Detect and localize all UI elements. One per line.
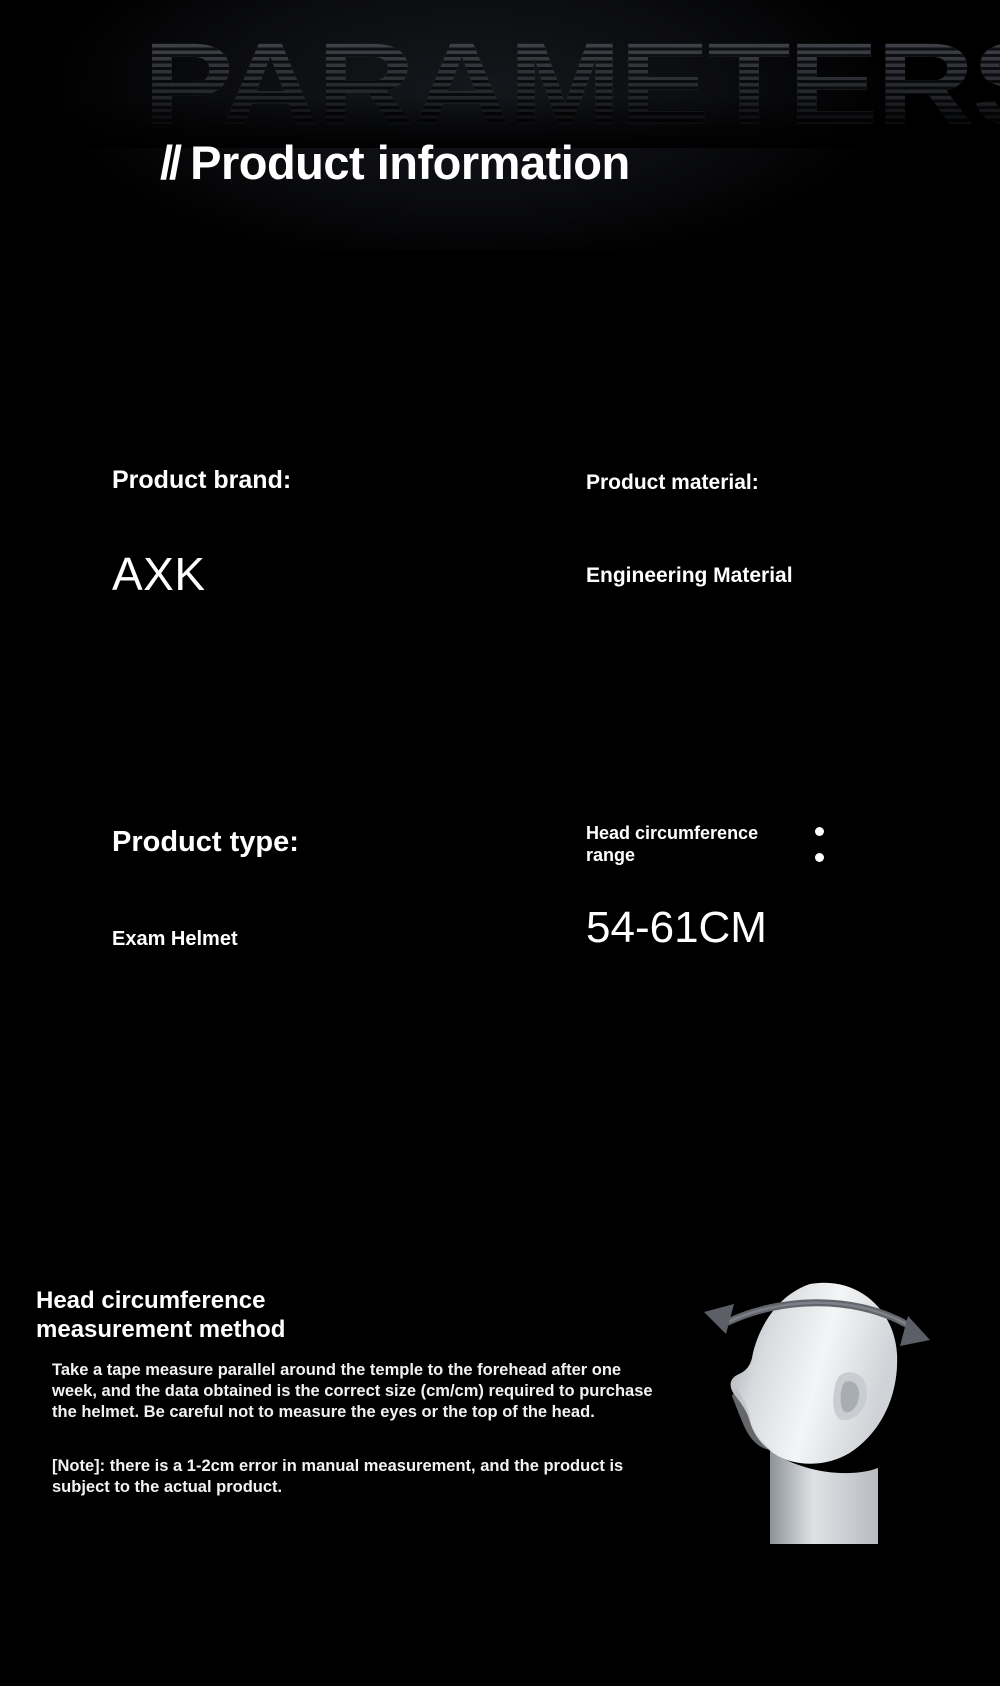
spec-product-type-label: Product type: [112,826,299,859]
measurement-method-section: Head circumference measurement method Ta… [0,1240,1000,1686]
spec-product-material: Product material: Engineering Material [586,471,793,588]
spec-product-material-label: Product material: [586,471,793,495]
colon-dot-lower [815,853,824,862]
colon-separator-icon [815,822,824,862]
spec-head-circumference-labelrow: Head circumference range [586,822,886,866]
title-text: Product information [190,136,630,189]
spec-product-brand-value: AXK [112,547,291,601]
mannequin-head-illustration [692,1254,942,1544]
tape-arrow-left-icon [704,1304,734,1334]
spec-head-circumference-label: Head circumference range [586,822,801,866]
spec-head-circumference-value: 54-61CM [586,903,886,953]
measurement-method-body: Take a tape measure parallel around the … [52,1360,657,1423]
measurement-title-line-2: measurement method [36,1315,285,1344]
measurement-title-line-1: Head circumference [36,1286,285,1315]
mannequin-neck [770,1450,878,1544]
page-header: PARAMETERS //Product information [0,0,1000,250]
colon-dot-upper [815,827,824,836]
spec-product-brand: Product brand: AXK [112,466,291,601]
title-slashes-decoration: // [160,136,190,189]
spec-product-type-value: Exam Helmet [112,928,299,951]
measurement-method-title: Head circumference measurement method [36,1286,285,1344]
spec-product-type: Product type: Exam Helmet [112,826,299,951]
page-title: //Product information [160,135,630,190]
spec-product-material-value: Engineering Material [586,564,793,588]
spec-head-circumference: Head circumference range 54-61CM [586,822,886,953]
spec-product-brand-label: Product brand: [112,466,291,495]
measurement-method-note: [Note]: there is a 1-2cm error in manual… [52,1456,672,1498]
parameters-watermark-text: PARAMETERS [143,28,1000,147]
